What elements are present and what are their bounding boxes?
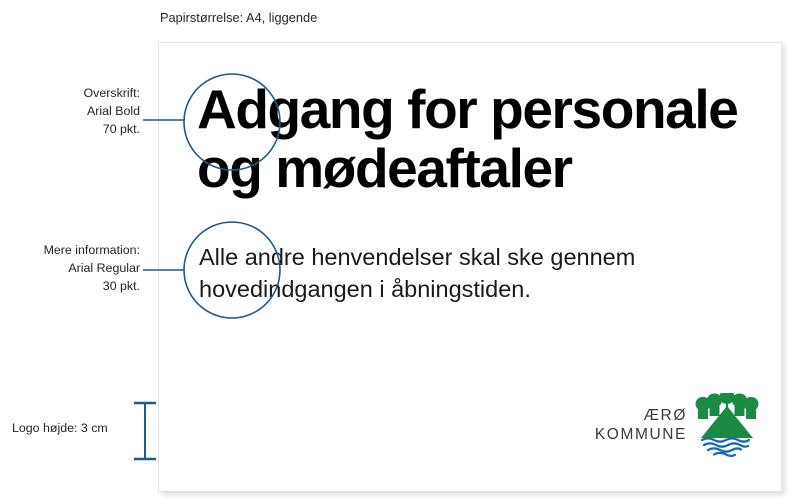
logo-line-aeroe: ÆRØ — [595, 407, 687, 426]
paper-size-caption: Papirstørrelse: A4, liggende — [160, 10, 317, 25]
annotation-label-body: Mere information: Arial Regular 30 pkt. — [0, 242, 140, 296]
poster-body-text: Alle andre henvendelser skal ske gennem … — [199, 241, 744, 306]
aeroe-kommune-emblem-icon — [695, 393, 759, 459]
annotation-label-logo-height: Logo højde: 3 cm — [0, 420, 130, 438]
poster-preview: Adgang for personale og mødeaftaler Alle… — [158, 42, 782, 492]
annotation-label-heading: Overskrift: Arial Bold 70 pkt. — [10, 85, 140, 139]
logo-line-kommune: KOMMUNE — [595, 426, 687, 445]
logo-block: ÆRØ KOMMUNE — [595, 393, 759, 459]
logo-wordmark: ÆRØ KOMMUNE — [595, 407, 687, 445]
poster-heading: Adgang for personale og mødeaftaler — [197, 80, 757, 198]
screenshot-root: Papirstørrelse: A4, liggende Adgang for … — [0, 0, 800, 504]
logo-height-dimension — [134, 403, 156, 459]
